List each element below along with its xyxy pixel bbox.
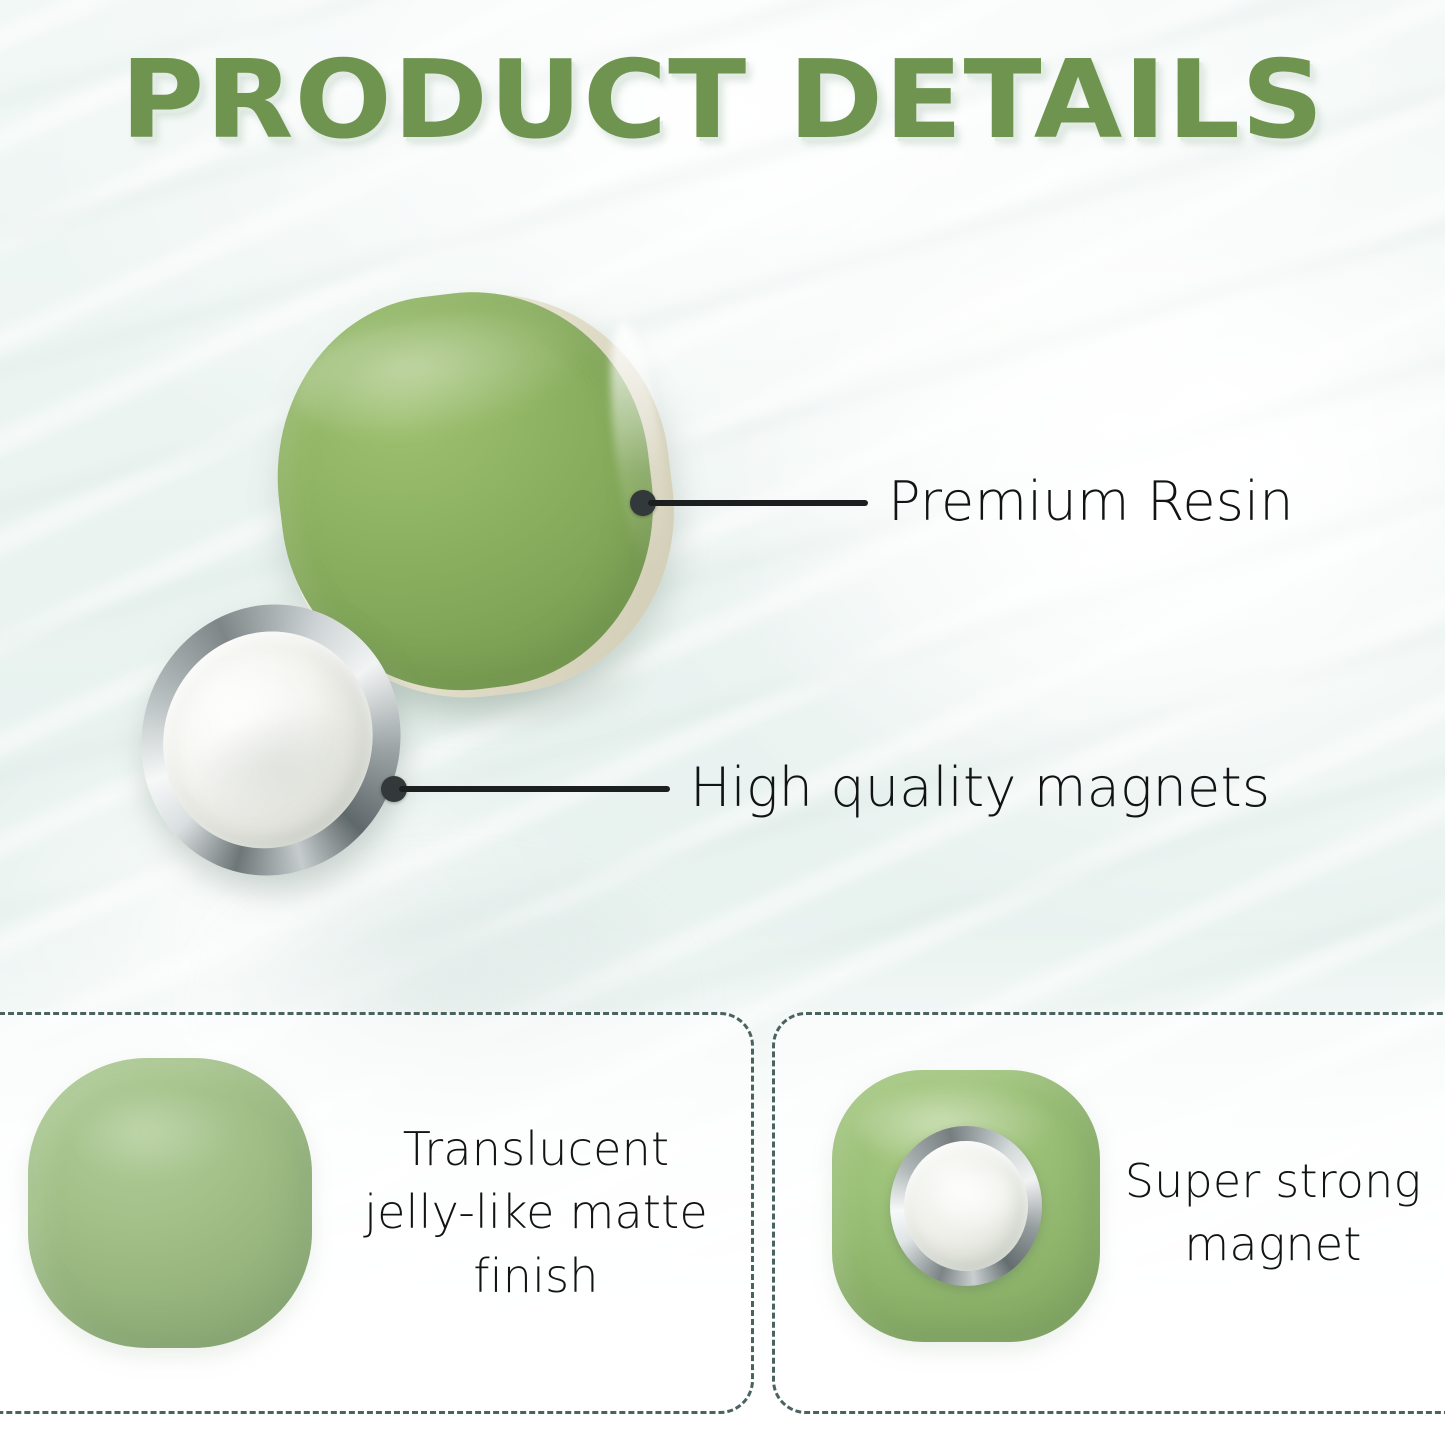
caption-line-1: Translucent <box>336 1118 736 1181</box>
caption-line-2: jelly-like matte <box>336 1181 736 1244</box>
page-title: PRODUCT DETAILS <box>0 44 1445 157</box>
callout-label-premium-resin: Premium Resin <box>888 470 1294 533</box>
magnet-embedded-chip <box>832 1070 1100 1342</box>
callout-line-high-quality-magnets <box>399 786 670 792</box>
magnet-chip-inner-face <box>904 1141 1028 1271</box>
magnet-chip-sheen <box>934 1171 1026 1233</box>
caption-line-1: Super strong <box>1108 1150 1438 1213</box>
magnet-chip-chrome-rim <box>890 1126 1042 1286</box>
callout-line-premium-resin <box>648 500 868 506</box>
feature-caption-super-strong-magnet: Super strong magnet <box>1108 1150 1438 1277</box>
callout-label-high-quality-magnets: High quality magnets <box>690 756 1270 819</box>
product-details-infographic: PRODUCT DETAILS Premium Resin High quali… <box>0 0 1445 1445</box>
matte-chip-highlight <box>74 1092 244 1182</box>
feature-caption-translucent-finish: Translucent jelly-like matte finish <box>336 1118 736 1308</box>
caption-line-3: finish <box>336 1245 736 1308</box>
caption-line-2: magnet <box>1108 1213 1438 1276</box>
matte-finish-chip <box>28 1058 312 1348</box>
